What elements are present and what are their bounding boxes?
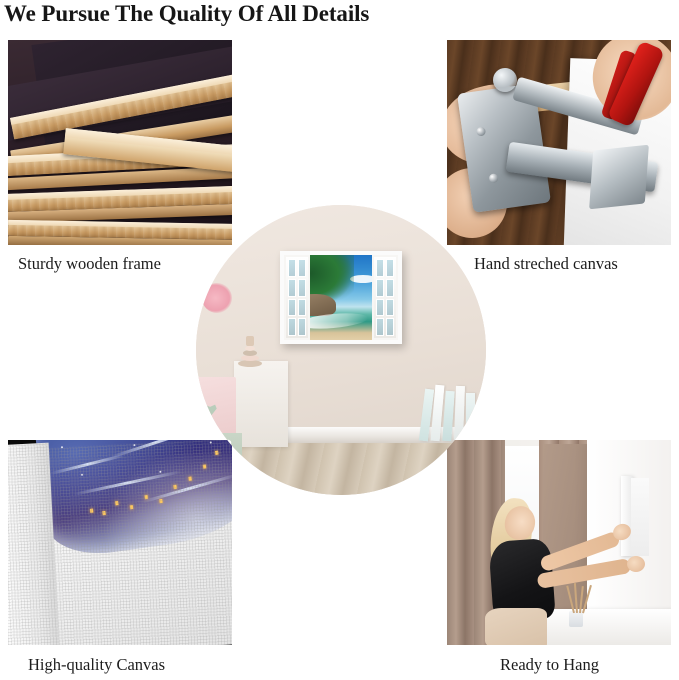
reed-diffuser-bottle [569, 611, 583, 627]
pliers-knob [493, 68, 517, 92]
console-table [543, 609, 671, 645]
toy-ring [238, 360, 262, 367]
flamingo-wall-decor [202, 283, 232, 313]
caption-ready-to-hang: Ready to Hang [500, 655, 599, 675]
pliers-jaw [589, 145, 649, 210]
polka-dot-drawer [196, 433, 242, 477]
hand-lower [627, 556, 645, 572]
hanging-canvas-face [631, 478, 649, 556]
white-dresser [234, 361, 288, 447]
beach-window-canvas-art [280, 251, 402, 344]
canvas-white-border [280, 251, 402, 344]
toy-crown [246, 336, 254, 346]
center-room-scene [196, 205, 486, 495]
leaning-board [454, 386, 465, 441]
beige-pants [485, 608, 547, 645]
toy-ring [245, 346, 255, 351]
leaning-board [466, 393, 475, 441]
leaning-board [442, 391, 454, 442]
caption-sturdy-wooden-frame: Sturdy wooden frame [18, 254, 161, 274]
page-title: We Pursue The Quality Of All Details [4, 1, 369, 27]
leaning-boards [422, 383, 478, 441]
pink-drawer [196, 377, 236, 435]
stacking-ring-toy [238, 333, 262, 367]
rivet-icon [476, 126, 486, 136]
rivet-icon [489, 173, 499, 183]
caption-hand-streched-canvas: Hand streched canvas [474, 254, 618, 274]
caption-high-quality-canvas: High-quality Canvas [28, 655, 165, 675]
